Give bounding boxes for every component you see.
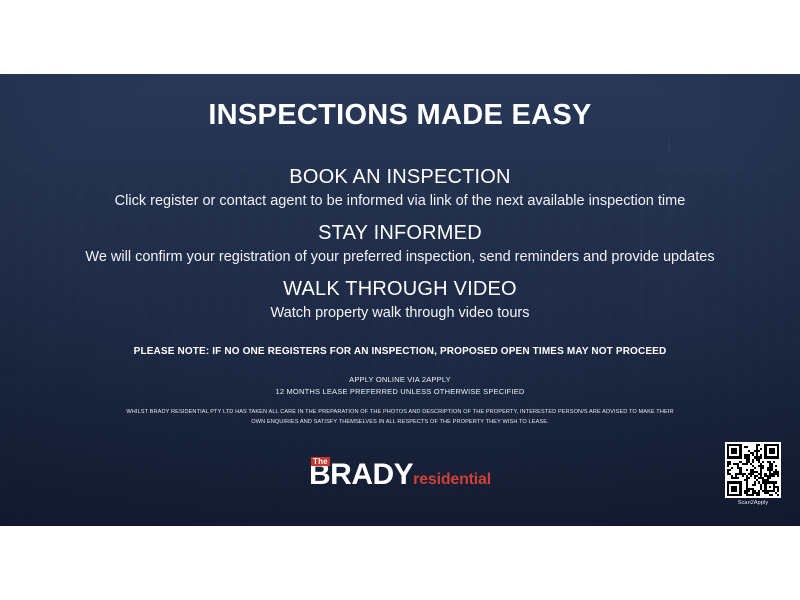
lease-term-line: 12 MONTHS LEASE PREFERRED UNLESS OTHERWI… bbox=[0, 386, 800, 398]
section-heading: BOOK AN INSPECTION bbox=[0, 166, 800, 189]
qr-code-label: Scan2Apply bbox=[722, 500, 784, 506]
section-heading: WALK THROUGH VIDEO bbox=[0, 278, 800, 301]
poster-page: INSPECTIONS MADE EASY BOOK AN INSPECTION… bbox=[0, 0, 800, 600]
section-book-an-inspection: BOOK AN INSPECTION Click register or con… bbox=[0, 166, 800, 209]
hero-panel: INSPECTIONS MADE EASY BOOK AN INSPECTION… bbox=[0, 74, 800, 526]
logo-residential-wordmark: residential bbox=[413, 471, 491, 488]
disclaimer-text: WHILST BRADY RESIDENTIAL PTY LTD HAS TAK… bbox=[60, 407, 740, 427]
please-note-text: PLEASE NOTE: IF NO ONE REGISTERS FOR AN … bbox=[0, 346, 800, 357]
hero-content: INSPECTIONS MADE EASY BOOK AN INSPECTION… bbox=[0, 74, 800, 526]
section-subtext: Click register or contact agent to be in… bbox=[0, 193, 800, 209]
scan2apply-qr-block[interactable]: Scan2Apply bbox=[722, 442, 784, 506]
disclaimer-line-1: WHILST BRADY RESIDENTIAL PTY LTD HAS TAK… bbox=[60, 407, 740, 417]
section-walk-through-video: WALK THROUGH VIDEO Watch property walk t… bbox=[0, 278, 800, 321]
apply-online-line: APPLY ONLINE VIA 2APPLY bbox=[0, 374, 800, 386]
qr-code-icon[interactable] bbox=[725, 442, 781, 498]
section-stay-informed: STAY INFORMED We will confirm your regis… bbox=[0, 222, 800, 265]
section-heading: STAY INFORMED bbox=[0, 222, 800, 245]
section-subtext: We will confirm your registration of you… bbox=[0, 249, 800, 265]
apply-info: APPLY ONLINE VIA 2APPLY 12 MONTHS LEASE … bbox=[0, 374, 800, 398]
logo-the-badge: The bbox=[311, 457, 330, 466]
disclaimer-line-2: OWN ENQUIRIES AND SATISFY THEMSELVES IN … bbox=[60, 417, 740, 427]
page-title: INSPECTIONS MADE EASY bbox=[0, 99, 800, 132]
brady-residential-logo[interactable]: TheBRADYresidential bbox=[0, 460, 800, 500]
section-subtext: Watch property walk through video tours bbox=[0, 305, 800, 321]
